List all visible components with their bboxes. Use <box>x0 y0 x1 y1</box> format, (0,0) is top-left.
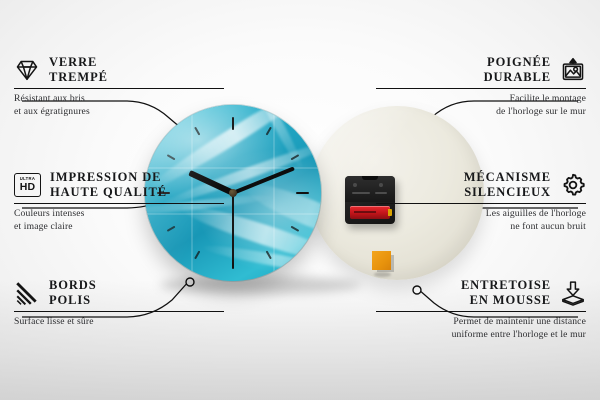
callout-header: BORDS POLIS <box>14 278 224 307</box>
feature-callout-impression-haute-qualite: ULTRA HD IMPRESSION DE HAUTE QUALITÉ Cou… <box>14 170 224 233</box>
callout-header: ULTRA HD IMPRESSION DE HAUTE QUALITÉ <box>14 170 224 199</box>
callout-divider <box>14 88 224 89</box>
callout-title: MÉCANISME SILENCIEUX <box>464 170 551 199</box>
callout-subtitle-line1: Surface lisse et sûre <box>14 316 224 328</box>
mechanism-detail-line <box>352 192 370 194</box>
callout-title: IMPRESSION DE HAUTE QUALITÉ <box>50 170 167 199</box>
picture-hanger-icon <box>560 57 586 83</box>
callout-header: MÉCANISME SILENCIEUX <box>376 170 586 199</box>
callout-subtitle-line1: Couleurs intenses <box>14 208 224 220</box>
callout-header: VERRE TREMPÉ <box>14 55 224 84</box>
callout-title: POIGNÉE DURABLE <box>484 55 551 84</box>
callout-divider <box>376 311 586 312</box>
feature-callout-entretoise-en-mousse: ENTRETOISE EN MOUSSE Permet de maintenir… <box>376 278 586 341</box>
callout-subtitle-line2: et aux égratignures <box>14 106 224 118</box>
callout-divider <box>376 203 586 204</box>
foam-spacer-shadow <box>374 272 391 277</box>
polished-edges-icon <box>14 280 40 306</box>
callout-title: VERRE TREMPÉ <box>49 55 108 84</box>
ultra-hd-icon-main-text: HD <box>20 182 36 193</box>
foam-spacer-icon <box>560 280 586 306</box>
mechanism-detail-dot <box>353 183 357 187</box>
callout-subtitle-line2: uniforme entre l'horloge et le mur <box>376 329 586 341</box>
feature-callout-mecanisme-silencieux: MÉCANISME SILENCIEUX Les aiguilles de l'… <box>376 170 586 233</box>
callout-subtitle-line1: Résistant aux bris <box>14 93 224 105</box>
callout-subtitle-line2: et image claire <box>14 221 224 233</box>
ultra-hd-icon: ULTRA HD <box>14 173 41 197</box>
infographic-stage: VERRE TREMPÉ Résistant aux bris et aux é… <box>0 0 600 400</box>
callout-title: ENTRETOISE EN MOUSSE <box>461 278 551 307</box>
callout-subtitle-line1: Facilite le montage <box>376 93 586 105</box>
foam-spacer <box>372 251 391 270</box>
callout-divider <box>376 88 586 89</box>
feature-callout-bords-polis: BORDS POLIS Surface lisse et sûre <box>14 278 224 329</box>
callout-subtitle-line2: ne font aucun bruit <box>376 221 586 233</box>
gear-icon <box>560 172 586 198</box>
battery-stripe <box>354 211 376 213</box>
callout-subtitle-line1: Permet de maintenir une distance <box>376 316 586 328</box>
feature-callout-poignee-durable: POIGNÉE DURABLE Facilite le montage de l… <box>376 55 586 118</box>
callout-header: ENTRETOISE EN MOUSSE <box>376 278 586 307</box>
callout-divider <box>14 203 224 204</box>
callout-subtitle-line1: Les aiguilles de l'horloge <box>376 208 586 220</box>
callout-title: BORDS POLIS <box>49 278 97 307</box>
feature-callout-verre-trempe: VERRE TREMPÉ Résistant aux bris et aux é… <box>14 55 224 118</box>
callout-header: POIGNÉE DURABLE <box>376 55 586 84</box>
callout-subtitle-line2: de l'horloge sur le mur <box>376 106 586 118</box>
callout-divider <box>14 311 224 312</box>
diamond-icon <box>14 57 40 83</box>
